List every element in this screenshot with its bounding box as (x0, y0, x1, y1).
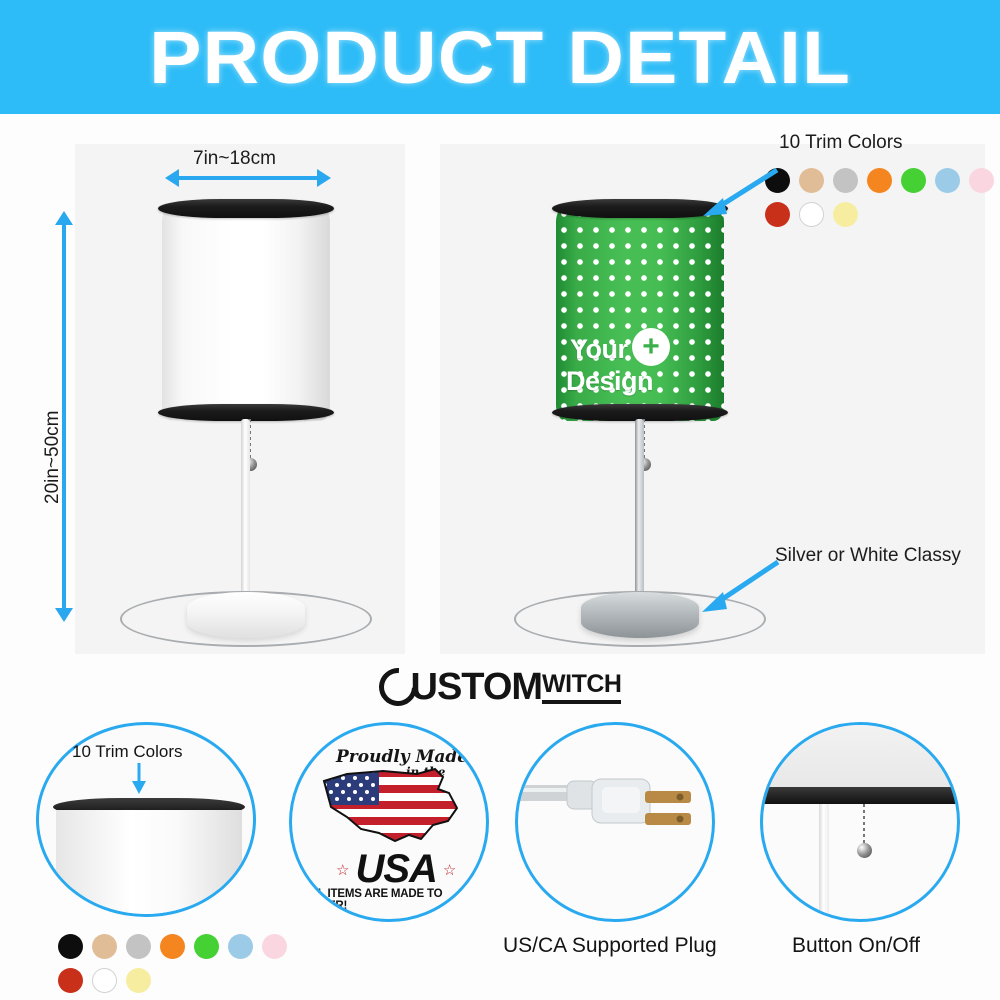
white-lamp-top-trim (158, 199, 334, 218)
trim-swatch-tan[interactable] (799, 168, 824, 193)
trim-colors-callout-arrow (695, 162, 785, 222)
add-design-icon[interactable]: + (632, 328, 670, 366)
trim-colors-down-arrow (127, 763, 151, 795)
trim-colors-callout-label: 10 Trim Colors (779, 132, 903, 154)
base-finish-callout-label: Silver or White Classy (775, 545, 961, 567)
trim-detail-shade (56, 810, 242, 917)
plus-symbol: + (642, 334, 660, 360)
trim-swatch-orange[interactable] (867, 168, 892, 193)
feature-made-in-usa-circle: Proudly Made in the (289, 722, 489, 922)
width-measurement-label: 7in~18cm (193, 148, 276, 170)
switch-detail-chain[interactable] (863, 804, 865, 846)
brand-logo: USTOM WITCH (0, 660, 1000, 714)
feature-plug-circle (515, 722, 715, 922)
trim-swatch-light-blue[interactable] (935, 168, 960, 193)
width-measurement-arrow (178, 176, 318, 180)
feature-plug-caption: US/CA Supported Plug (503, 934, 717, 958)
feature-switch-circle (760, 722, 960, 922)
trim-swatch-pink[interactable] (262, 934, 287, 959)
feature-trim-colors-swatch-row (58, 934, 304, 993)
usa-footer-text: ALL ITEMS ARE MADE TO ORDER! (303, 888, 486, 912)
trim-swatch-gray[interactable] (126, 934, 151, 959)
logo-witch-text: WITCH (542, 670, 621, 704)
trim-swatch-green[interactable] (194, 934, 219, 959)
feature-switch: Button On/Off (760, 722, 990, 972)
switch-detail-trim (760, 787, 960, 804)
product-stage: Your + Design 7in~18cm 20in~50cm 10 Trim… (0, 114, 1000, 660)
green-lamp-base (581, 592, 699, 638)
trim-swatch-orange[interactable] (160, 934, 185, 959)
usa-country-text: USA (355, 847, 436, 892)
trim-swatch-yellow[interactable] (126, 968, 151, 993)
trim-swatch-pink[interactable] (969, 168, 994, 193)
switch-detail-bead[interactable] (857, 843, 872, 858)
height-measurement-label: 20in~50cm (42, 411, 64, 504)
feature-trim-colors-caption: 10 Trim Colors (72, 742, 183, 762)
trim-swatch-tan[interactable] (92, 934, 117, 959)
feature-made-in-usa: Proudly Made in the (289, 722, 499, 922)
base-finish-callout-arrow (690, 554, 785, 619)
page-banner: PRODUCT DETAIL (0, 0, 1000, 114)
white-lamp-base (187, 592, 305, 638)
trim-swatch-gray[interactable] (833, 168, 858, 193)
usa-star-left-icon: ☆ (336, 861, 349, 879)
trim-swatch-white[interactable] (799, 202, 824, 227)
white-lamp-shade (162, 206, 330, 421)
trim-swatch-green[interactable] (901, 168, 926, 193)
switch-detail-shade (763, 725, 960, 787)
green-lamp-pole (635, 419, 644, 614)
green-lamp-shade: Your + Design (556, 206, 724, 421)
page-title: PRODUCT DETAIL (149, 15, 851, 100)
feature-trim-colors: 10 Trim Colors (36, 722, 266, 992)
design-text-line1: Your (570, 334, 628, 364)
trim-swatch-black[interactable] (58, 934, 83, 959)
usa-star-right-icon: ☆ (443, 861, 456, 879)
usa-badge: Proudly Made in the (292, 725, 486, 919)
switch-detail-pole (819, 804, 829, 922)
product-detail-page: PRODUCT DETAIL Your + (0, 0, 1000, 1000)
power-plug-icon (515, 767, 715, 877)
feature-switch-caption: Button On/Off (792, 934, 920, 958)
design-text-line2: Design (566, 366, 653, 396)
feature-plug: US/CA Supported Plug (515, 722, 755, 972)
logo-custom-text: USTOM (411, 666, 543, 709)
height-measurement-arrow (62, 224, 66, 609)
trim-colors-swatch-row (765, 168, 1000, 227)
usa-map-flag-icon (317, 763, 469, 849)
trim-swatch-white[interactable] (92, 968, 117, 993)
trim-swatch-yellow[interactable] (833, 202, 858, 227)
white-lamp-pole (241, 419, 250, 614)
trim-swatch-brick-red[interactable] (58, 968, 83, 993)
trim-swatch-light-blue[interactable] (228, 934, 253, 959)
